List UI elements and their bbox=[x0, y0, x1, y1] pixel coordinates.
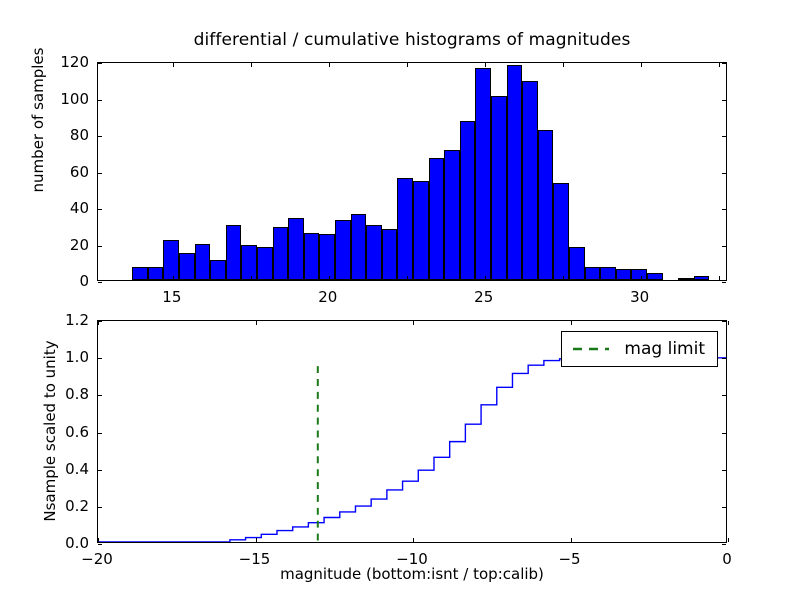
y-tickmark bbox=[98, 433, 102, 434]
histogram-bar bbox=[382, 229, 398, 280]
x-tickmark bbox=[571, 538, 572, 542]
y-tickmark bbox=[722, 321, 726, 322]
x-minor-tickmark bbox=[563, 63, 564, 67]
y-tickmark bbox=[98, 246, 102, 247]
histogram-bar bbox=[148, 267, 164, 280]
histogram-bar bbox=[288, 218, 304, 280]
x-tick-label: 30 bbox=[610, 288, 670, 306]
histogram-bar bbox=[522, 81, 538, 280]
histogram-bar bbox=[694, 276, 710, 280]
x-tickmark bbox=[413, 538, 414, 542]
histogram-bar bbox=[616, 269, 632, 280]
histogram-bar bbox=[241, 245, 257, 280]
mag-limit-swatch-icon bbox=[572, 343, 610, 355]
y-tickmark bbox=[98, 209, 102, 210]
y-tickmark bbox=[98, 173, 102, 174]
histogram-bar bbox=[460, 121, 476, 280]
x-tick-label: 20 bbox=[298, 288, 358, 306]
x-tickmark bbox=[641, 63, 642, 67]
y-tickmark bbox=[722, 470, 726, 471]
histogram-bar bbox=[538, 130, 554, 280]
x-minor-tickmark bbox=[719, 63, 720, 67]
histogram-bar bbox=[647, 273, 663, 280]
histogram-axes bbox=[97, 62, 727, 281]
histogram-bar bbox=[397, 178, 413, 280]
y-tickmark bbox=[98, 100, 102, 101]
histogram-bar bbox=[132, 267, 148, 280]
histogram-bar bbox=[585, 267, 601, 280]
y-tickmark bbox=[722, 395, 726, 396]
x-tickmark bbox=[329, 276, 330, 280]
y-tickmark bbox=[98, 63, 102, 64]
x-minor-tickmark bbox=[251, 276, 252, 280]
histogram-bar bbox=[366, 225, 382, 280]
histogram-bar bbox=[631, 269, 647, 280]
x-tickmark bbox=[98, 538, 99, 542]
page-title: differential / cumulative histograms of … bbox=[97, 30, 727, 50]
x-tickmark bbox=[485, 276, 486, 280]
histogram-bar bbox=[304, 233, 320, 280]
x-tickmark bbox=[485, 63, 486, 67]
x-minor-tickmark bbox=[407, 63, 408, 67]
y-tickmark bbox=[722, 173, 726, 174]
y-tickmark bbox=[98, 395, 102, 396]
y-tickmark bbox=[98, 358, 102, 359]
y-tickmark bbox=[722, 358, 726, 359]
histogram-bar bbox=[507, 65, 523, 280]
histogram-bar bbox=[413, 181, 429, 280]
y-tickmark bbox=[98, 282, 102, 283]
histogram-plot-area bbox=[98, 63, 726, 280]
x-minor-tickmark bbox=[719, 276, 720, 280]
y-tickmark bbox=[722, 63, 726, 64]
x-tickmark bbox=[413, 321, 414, 325]
x-tickmark bbox=[98, 321, 99, 325]
cumulative-x-axis-label: magnitude (bottom:isnt / top:calib) bbox=[97, 565, 727, 583]
cumulative-y-axis-label: Nsample scaled to unity bbox=[41, 311, 59, 551]
histogram-bar bbox=[179, 253, 195, 280]
histogram-bar bbox=[319, 234, 335, 280]
x-minor-tickmark bbox=[407, 276, 408, 280]
histogram-bar bbox=[678, 278, 694, 280]
cumulative-axes: mag limit bbox=[97, 320, 727, 543]
y-tickmark bbox=[722, 544, 726, 545]
x-tickmark bbox=[329, 63, 330, 67]
cumulative-curve bbox=[98, 358, 726, 542]
x-tickmark bbox=[641, 276, 642, 280]
histogram-bar bbox=[491, 96, 507, 280]
x-minor-tickmark bbox=[563, 276, 564, 280]
x-tickmark bbox=[256, 538, 257, 542]
y-tickmark bbox=[98, 136, 102, 137]
x-tickmark bbox=[728, 321, 729, 325]
y-tickmark bbox=[98, 470, 102, 471]
y-tickmark bbox=[98, 507, 102, 508]
histogram-bar bbox=[210, 260, 226, 280]
y-tickmark bbox=[722, 209, 726, 210]
y-tick-label: 20 bbox=[37, 236, 89, 254]
y-tickmark bbox=[722, 100, 726, 101]
y-tickmark bbox=[722, 282, 726, 283]
x-tickmark bbox=[173, 63, 174, 67]
histogram-bar bbox=[226, 225, 242, 280]
x-minor-tickmark bbox=[251, 63, 252, 67]
histogram-bar bbox=[475, 68, 491, 280]
histogram-bar bbox=[429, 158, 445, 280]
y-tickmark bbox=[722, 246, 726, 247]
histogram-bar bbox=[335, 220, 351, 280]
histogram-bar bbox=[273, 227, 289, 280]
histogram-bar bbox=[444, 150, 460, 280]
y-tickmark bbox=[722, 136, 726, 137]
histogram-bar bbox=[351, 214, 367, 280]
histogram-bar bbox=[195, 244, 211, 281]
x-tickmark bbox=[173, 276, 174, 280]
histogram-bar bbox=[600, 267, 616, 280]
histogram-bar bbox=[553, 183, 569, 280]
histogram-bar bbox=[163, 240, 179, 280]
histogram-bar bbox=[257, 247, 273, 280]
x-tickmark bbox=[728, 538, 729, 542]
x-tickmark bbox=[256, 321, 257, 325]
x-tick-label: 25 bbox=[454, 288, 514, 306]
histogram-y-axis-label: number of samples bbox=[29, 10, 47, 230]
histogram-bar bbox=[569, 247, 585, 280]
x-tickmark bbox=[571, 321, 572, 325]
y-tickmark bbox=[722, 507, 726, 508]
figure-canvas: differential / cumulative histograms of … bbox=[0, 0, 800, 600]
legend[interactable]: mag limit bbox=[561, 331, 718, 367]
y-tick-label: 0 bbox=[37, 272, 89, 290]
y-tickmark bbox=[98, 544, 102, 545]
legend-label-mag-limit: mag limit bbox=[624, 339, 705, 359]
x-tick-label: 15 bbox=[142, 288, 202, 306]
y-tickmark bbox=[722, 433, 726, 434]
